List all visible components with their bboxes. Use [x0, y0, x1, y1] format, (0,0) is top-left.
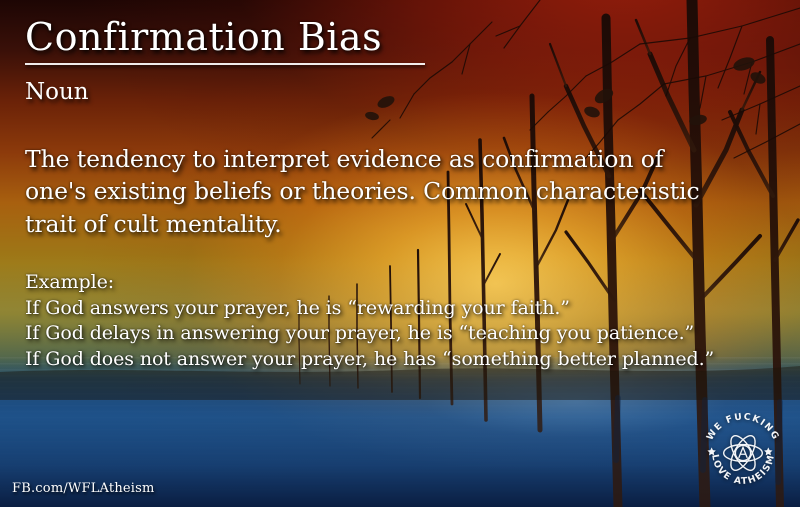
poster-image: Confirmation Bias Noun The tendency to i… [0, 0, 800, 507]
svg-text:LOVE ATHEISM: LOVE ATHEISM [709, 453, 777, 487]
example-line-3: If God does not answer your prayer, he h… [25, 347, 780, 372]
example-line-1: If God answers your prayer, he is “rewar… [25, 296, 780, 321]
title-underline-rule [25, 63, 425, 65]
credit-url: FB.com/WFLAtheism [12, 481, 155, 496]
part-of-speech-label: Noun [25, 79, 780, 105]
definition-line-2: one's existing beliefs or theories. Comm… [25, 175, 780, 207]
logo-bottom-text: LOVE ATHEISM [709, 453, 777, 487]
wfl-atheism-logo: WE FUCKING LOVE ATHEISM [699, 409, 787, 497]
left-star-icon [707, 447, 715, 455]
example-section: Example: If God answers your prayer, he … [25, 270, 780, 372]
svg-text:WE FUCKING: WE FUCKING [704, 411, 781, 442]
atheist-atom-symbol-icon [724, 432, 763, 474]
logo-top-text: WE FUCKING [704, 411, 781, 442]
example-line-2: If God delays in answering your prayer, … [25, 321, 780, 346]
page-title: Confirmation Bias [25, 18, 780, 58]
poster-text-content: Confirmation Bias Noun The tendency to i… [0, 0, 800, 507]
definition-line-3: trait of cult mentality. [25, 208, 780, 240]
example-heading: Example: [25, 270, 780, 295]
definition-text: The tendency to interpret evidence as co… [25, 143, 780, 240]
definition-line-1: The tendency to interpret evidence as co… [25, 143, 780, 175]
